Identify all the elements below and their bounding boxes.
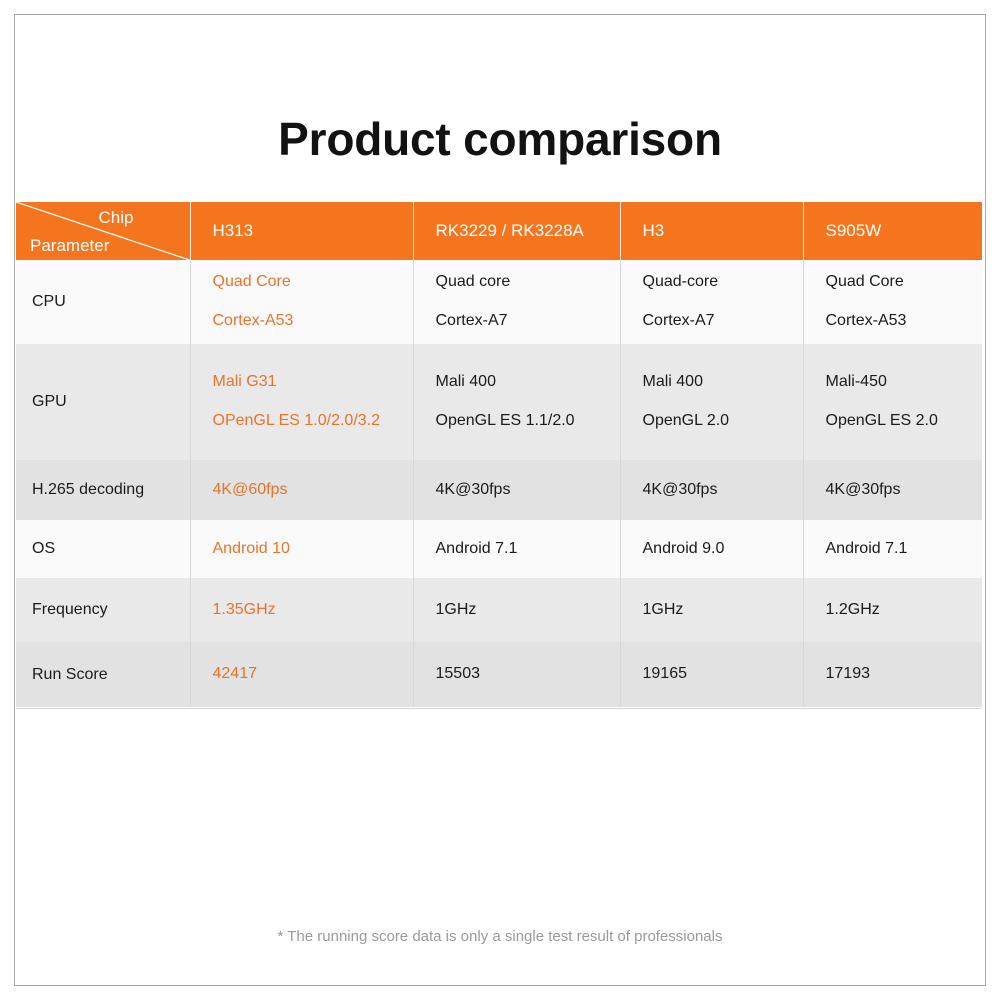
row-label-cell-os: OS — [16, 520, 190, 578]
cell-content: 1GHz — [414, 598, 620, 623]
row-label-gpu: GPU — [16, 393, 190, 411]
column-header-label-2: H3 — [621, 221, 803, 241]
column-header-1: RK3229 / RK3228A — [413, 202, 620, 260]
cell-cpu-h3: Quad-core Cortex-A7 — [620, 260, 803, 344]
cell-gpu-h313: Mali G31 OPenGL ES 1.0/2.0/3.2 — [190, 344, 413, 460]
cell-line-1: Quad Core — [213, 270, 391, 295]
table-row: OS Android 10 Android 7.1 Android 9.0 An… — [16, 520, 982, 578]
page-title: Product comparison — [0, 112, 1000, 166]
cell-run-score-h3: 19165 — [620, 642, 803, 707]
table-row: H.265 decoding 4K@60fps 4K@30fps 4K@30fp… — [16, 460, 982, 520]
cell-content: 4K@60fps — [191, 478, 413, 503]
column-header-3: S905W — [803, 202, 982, 260]
cell-gpu-rk3229: Mali 400 OpenGL ES 1.1/2.0 — [413, 344, 620, 460]
column-header-label-3: S905W — [804, 221, 983, 241]
cell-content: Android 7.1 — [804, 537, 983, 562]
cell-content: Mali-450 OpenGL ES 2.0 — [804, 370, 983, 434]
cell-line-2: OPenGL ES 1.0/2.0/3.2 — [213, 409, 391, 434]
cell-content: 15503 — [414, 662, 620, 687]
cell-os-s905w: Android 7.1 — [803, 520, 982, 578]
footnote-text: * The running score data is only a singl… — [0, 928, 1000, 945]
cell-line-2: Cortex-A7 — [436, 309, 598, 334]
cell-line-1: Mali-450 — [826, 370, 961, 395]
table-body: CPU Quad Core Cortex-A53 Quad core Corte… — [16, 260, 982, 707]
cell-run-score-s905w: 17193 — [803, 642, 982, 707]
cell-content: Mali G31 OPenGL ES 1.0/2.0/3.2 — [191, 370, 413, 434]
cell-gpu-h3: Mali 400 OpenGL 2.0 — [620, 344, 803, 460]
cell-run-score-h313: 42417 — [190, 642, 413, 707]
cell-content: Quad Core Cortex-A53 — [804, 270, 983, 334]
cell-content: Android 9.0 — [621, 537, 803, 562]
cell-line-1: Mali 400 — [436, 370, 598, 395]
table-row: Run Score 42417 15503 19165 17193 — [16, 642, 982, 707]
row-label-h265: H.265 decoding — [16, 481, 190, 499]
cell-content: Quad-core Cortex-A7 — [621, 270, 803, 334]
cell-os-rk3229: Android 7.1 — [413, 520, 620, 578]
cell-line-1: Quad core — [436, 270, 598, 295]
cell-line-2: OpenGL ES 2.0 — [826, 409, 961, 434]
row-label-frequency: Frequency — [16, 601, 190, 619]
cell-h265-h313: 4K@60fps — [190, 460, 413, 520]
cell-line-2: OpenGL 2.0 — [643, 409, 781, 434]
column-header-2: H3 — [620, 202, 803, 260]
cell-cpu-s905w: Quad Core Cortex-A53 — [803, 260, 982, 344]
cell-content: Quad Core Cortex-A53 — [191, 270, 413, 334]
cell-content: 4K@30fps — [804, 478, 983, 503]
cell-content: Android 10 — [191, 537, 413, 562]
cell-content: 1.2GHz — [804, 598, 983, 623]
cell-line-2: Cortex-A7 — [643, 309, 781, 334]
column-header-label-0: H313 — [191, 221, 413, 241]
cell-line-2: Cortex-A53 — [826, 309, 961, 334]
cell-line-1: Quad-core — [643, 270, 781, 295]
row-label-run-score: Run Score — [16, 666, 190, 684]
cell-h265-s905w: 4K@30fps — [803, 460, 982, 520]
cell-line-1: Mali G31 — [213, 370, 391, 395]
table-row: GPU Mali G31 OPenGL ES 1.0/2.0/3.2 Mali … — [16, 344, 982, 460]
cell-line-1: Quad Core — [826, 270, 961, 295]
cell-content: 1GHz — [621, 598, 803, 623]
table-header-row: Chip Parameter H313 RK3229 / RK3228A H3 … — [16, 202, 982, 260]
table-bottom-rule — [16, 708, 982, 709]
cell-content: Quad core Cortex-A7 — [414, 270, 620, 334]
cell-cpu-h313: Quad Core Cortex-A53 — [190, 260, 413, 344]
row-label-os: OS — [16, 540, 190, 558]
cell-frequency-rk3229: 1GHz — [413, 578, 620, 642]
table-row: Frequency 1.35GHz 1GHz 1GHz 1.2GHz — [16, 578, 982, 642]
cell-h265-h3: 4K@30fps — [620, 460, 803, 520]
cell-content: 19165 — [621, 662, 803, 687]
cell-content: 1.35GHz — [191, 598, 413, 623]
cell-content: Mali 400 OpenGL ES 1.1/2.0 — [414, 370, 620, 434]
cell-os-h3: Android 9.0 — [620, 520, 803, 578]
comparison-page: Product comparison Chip Parameter — [0, 0, 1000, 1000]
row-label-cell-run-score: Run Score — [16, 642, 190, 707]
cell-os-h313: Android 10 — [190, 520, 413, 578]
cell-frequency-h313: 1.35GHz — [190, 578, 413, 642]
column-header-label-1: RK3229 / RK3228A — [414, 221, 620, 241]
row-label-cell-h265: H.265 decoding — [16, 460, 190, 520]
corner-parameter-label: Parameter — [30, 236, 109, 256]
row-label-cell-cpu: CPU — [16, 260, 190, 344]
cell-content: Mali 400 OpenGL 2.0 — [621, 370, 803, 434]
cell-frequency-h3: 1GHz — [620, 578, 803, 642]
cell-frequency-s905w: 1.2GHz — [803, 578, 982, 642]
cell-content: 42417 — [191, 662, 413, 687]
cell-content: 17193 — [804, 662, 983, 687]
cell-content: Android 7.1 — [414, 537, 620, 562]
cell-run-score-rk3229: 15503 — [413, 642, 620, 707]
cell-gpu-s905w: Mali-450 OpenGL ES 2.0 — [803, 344, 982, 460]
cell-line-2: OpenGL ES 1.1/2.0 — [436, 409, 598, 434]
cell-content: 4K@30fps — [621, 478, 803, 503]
cell-content: 4K@30fps — [414, 478, 620, 503]
corner-header-cell: Chip Parameter — [16, 202, 190, 260]
table-row: CPU Quad Core Cortex-A53 Quad core Corte… — [16, 260, 982, 344]
product-comparison-table: Chip Parameter H313 RK3229 / RK3228A H3 … — [16, 202, 982, 707]
cell-h265-rk3229: 4K@30fps — [413, 460, 620, 520]
row-label-cell-frequency: Frequency — [16, 578, 190, 642]
corner-diagonal-cell: Chip Parameter — [16, 202, 190, 260]
corner-chip-label: Chip — [99, 208, 134, 228]
cell-line-2: Cortex-A53 — [213, 309, 391, 334]
column-header-0: H313 — [190, 202, 413, 260]
row-label-cell-gpu: GPU — [16, 344, 190, 460]
row-label-cpu: CPU — [16, 293, 190, 311]
cell-line-1: Mali 400 — [643, 370, 781, 395]
cell-cpu-rk3229: Quad core Cortex-A7 — [413, 260, 620, 344]
